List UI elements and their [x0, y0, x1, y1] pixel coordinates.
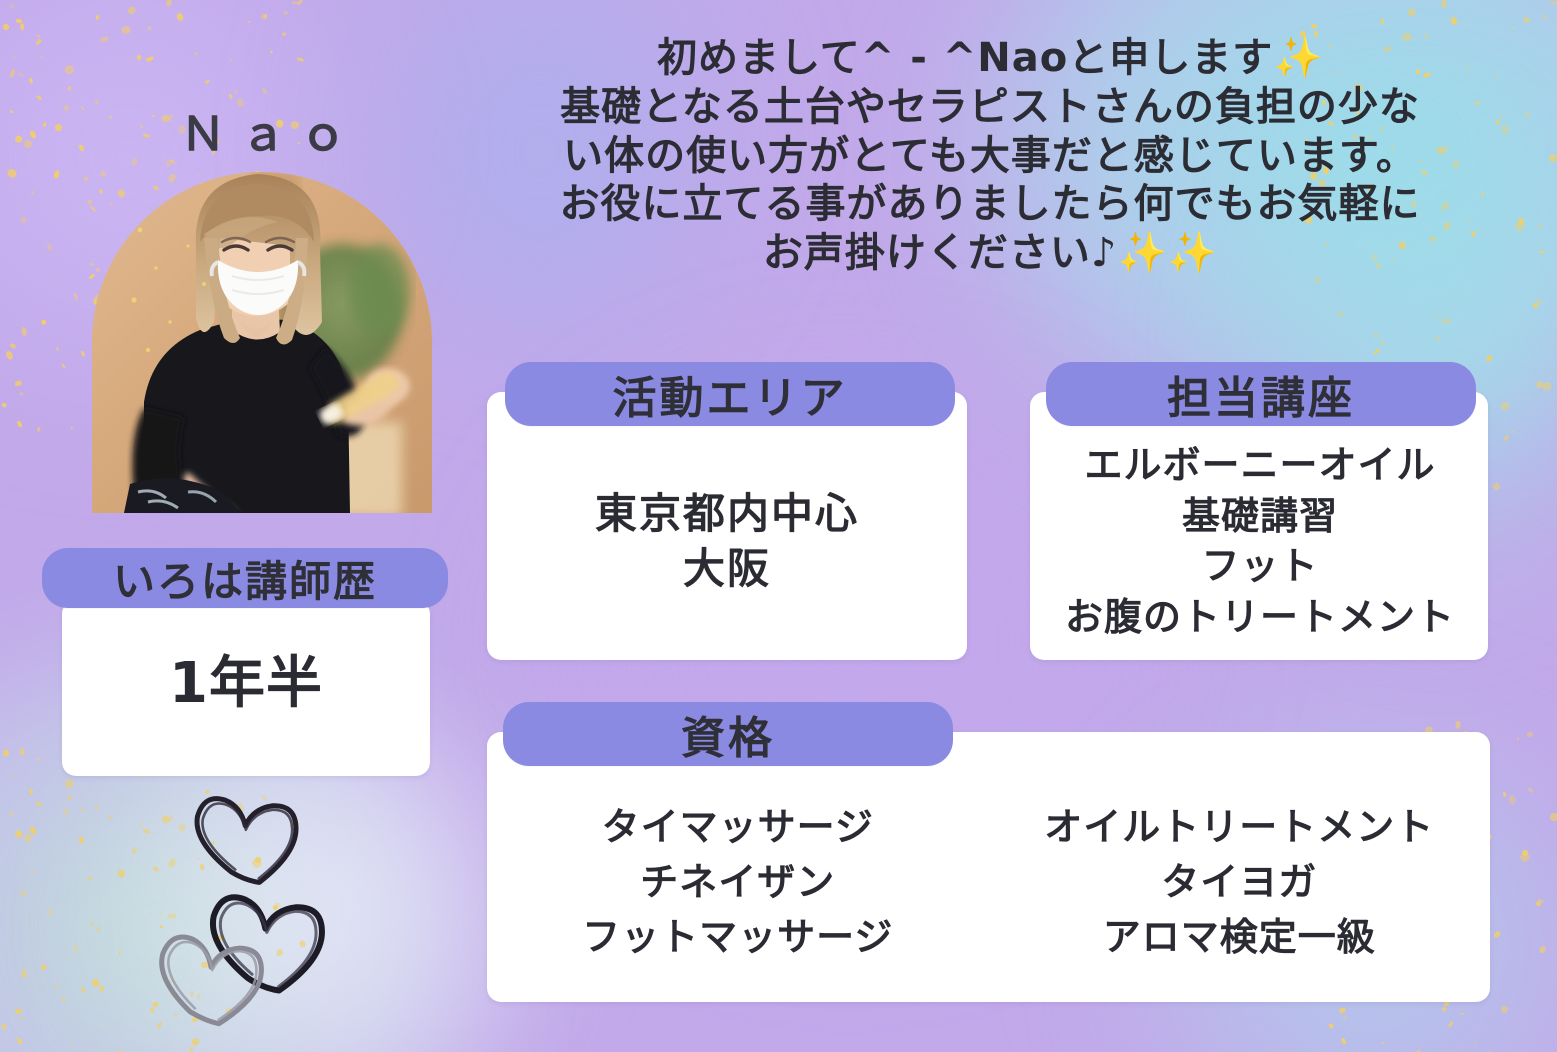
- intro-line-2: 基礎となる土台やセラピストさんの負担の少な: [520, 83, 1460, 132]
- sparkles-icon: ✨: [1273, 35, 1323, 81]
- certifications-left-column: タイマッサージ チネイザン フットマッサージ: [487, 800, 989, 965]
- courses-list: エルボーニーオイル 基礎講習 フット お腹のトリートメント: [1022, 440, 1498, 642]
- teaching-history-value: 1年半: [62, 648, 430, 721]
- profile-name: Ｎａｏ: [120, 98, 420, 164]
- activity-area-title: 活動エリア: [505, 362, 955, 426]
- profile-photo: [92, 172, 432, 513]
- course-item: エルボーニーオイル: [1022, 440, 1498, 491]
- profile-photo-illustration: [92, 172, 432, 513]
- certifications-title: 資格: [503, 702, 953, 766]
- certifications-list: タイマッサージ チネイザン フットマッサージ オイルトリートメント タイヨガ ア…: [487, 800, 1490, 965]
- sparkles-icon-2: ✨✨: [1117, 230, 1217, 276]
- course-item: 基礎講習: [1022, 491, 1498, 542]
- certification-item: フットマッサージ: [487, 910, 989, 965]
- certification-item: チネイザン: [487, 855, 989, 910]
- heart-icon-2: [210, 888, 328, 996]
- course-item: お腹のトリートメント: [1022, 592, 1498, 643]
- activity-area-list: 東京都内中心 大阪: [487, 487, 967, 596]
- intro-line-1: 初めまして^ - ^Naoと申します✨: [520, 34, 1460, 83]
- intro-line-5: お声掛けください♪✨✨: [520, 229, 1460, 278]
- courses-title: 担当講座: [1046, 362, 1476, 426]
- certification-item: タイヨガ: [989, 855, 1491, 910]
- profile-poster: Ｎａｏ: [0, 0, 1557, 1052]
- certification-item: オイルトリートメント: [989, 800, 1491, 855]
- certification-item: タイマッサージ: [487, 800, 989, 855]
- heart-icon-1: [194, 790, 303, 890]
- intro-text: 初めまして^ - ^Naoと申します✨ 基礎となる土台やセラピストさんの負担の少…: [520, 34, 1460, 278]
- teaching-history-title: いろは講師歴: [42, 548, 448, 608]
- hearts-decoration: [150, 790, 410, 1040]
- course-item: フット: [1022, 541, 1498, 592]
- certification-item: アロマ検定一級: [989, 910, 1491, 965]
- activity-area-item: 東京都内中心: [487, 487, 967, 542]
- intro-line-4: お役に立てる事がありましたら何でもお気軽に: [520, 180, 1460, 229]
- intro-line-3: い体の使い方がとても大事だと感じています。: [520, 132, 1460, 181]
- activity-area-item: 大阪: [487, 542, 967, 597]
- certifications-right-column: オイルトリートメント タイヨガ アロマ検定一級: [989, 800, 1491, 965]
